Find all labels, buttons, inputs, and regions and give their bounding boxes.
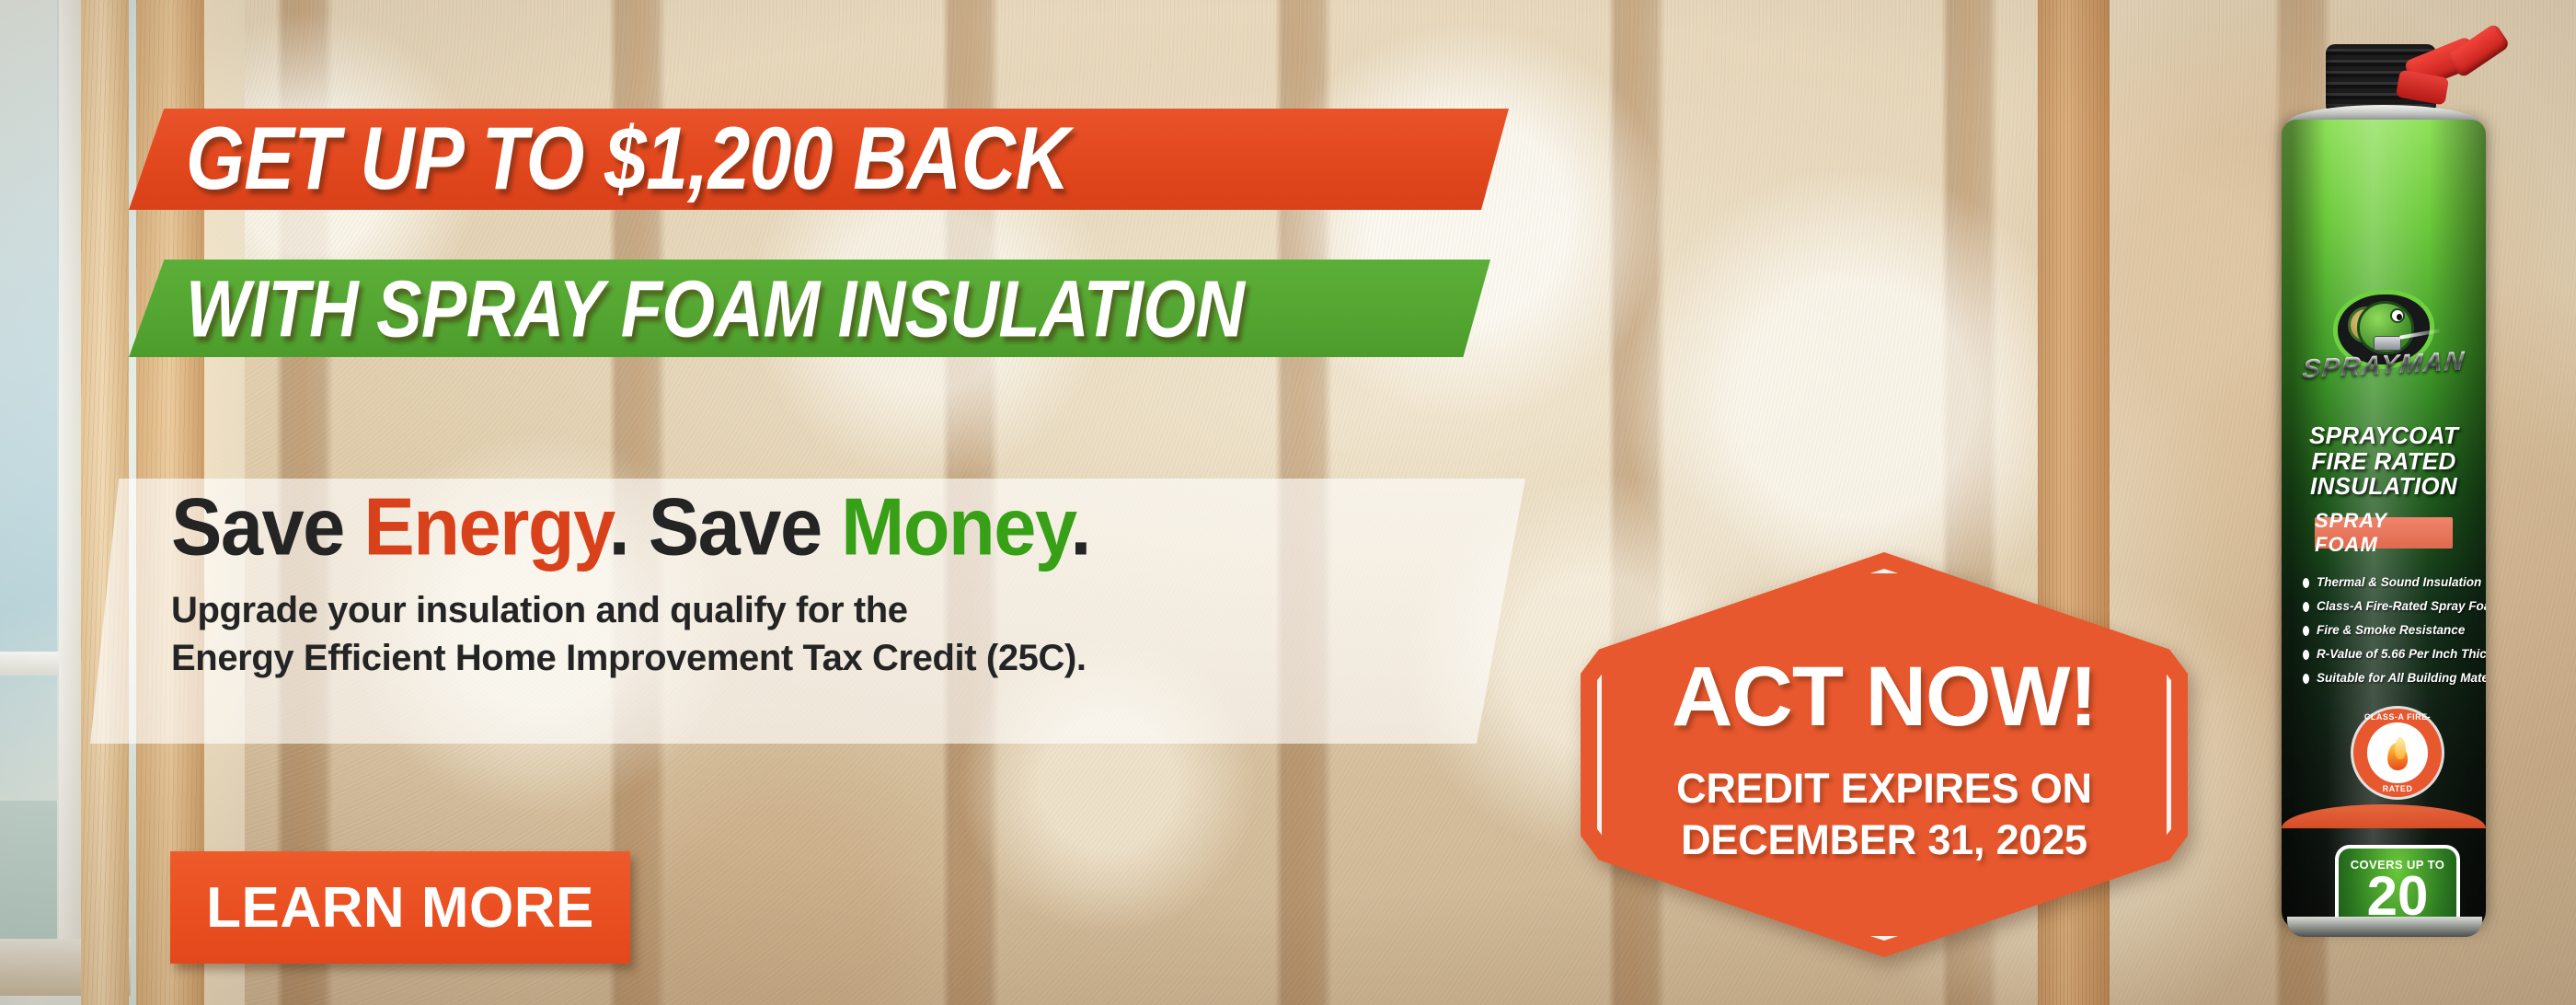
brand-logo: SPRAYMAN [2282, 263, 2486, 407]
badge-title: ACT NOW! [1672, 654, 2097, 739]
subhead-dot-2: . [1070, 481, 1090, 572]
product-name-line-3: INSULATION [2289, 474, 2478, 500]
subhead-save-2: Save [649, 481, 841, 572]
subhead-save-line: Save Energy. Save Money. [171, 482, 1514, 573]
coverage-number: 20 [2339, 870, 2456, 923]
badge-sub-line-1: CREDIT EXPIRES ON [1676, 763, 2092, 814]
headline-banner-secondary: WITH SPRAY FOAM INSULATION [129, 260, 1490, 357]
badge-content: ACT NOW! CREDIT EXPIRES ON DECEMBER 31, … [1581, 552, 2188, 957]
learn-more-button[interactable]: LEARN MORE [170, 851, 630, 964]
product-type-pill: SPRAY FOAM [2315, 517, 2453, 549]
turtle-eye-icon [2390, 308, 2405, 323]
seal-text-top: CLASS-A FIRE- [2353, 712, 2442, 722]
can-bottom-rim [2287, 917, 2482, 937]
product-name: SPRAYCOAT FIRE RATED INSULATION [2289, 423, 2478, 500]
product-name-line-1: SPRAYCOAT [2289, 423, 2478, 449]
headline-line-2: WITH SPRAY FOAM INSULATION [186, 262, 1244, 354]
list-item: Fire & Smoke Resistance [2302, 618, 2475, 642]
seal-text-bottom: RATED [2353, 784, 2442, 793]
brand-name: SPRAYMAN [2301, 346, 2467, 385]
body-copy-line-2: Energy Efficient Home Improvement Tax Cr… [171, 634, 1514, 682]
product-feature-list: Thermal & Sound Insulation Class-A Fire-… [2302, 571, 2475, 690]
subhead-money: Money [841, 481, 1070, 572]
spray-gun-icon [2374, 336, 2401, 351]
copy-block: Save Energy. Save Money. Upgrade your in… [171, 482, 1514, 682]
headline-line-1: GET UP TO $1,200 BACK [186, 109, 1069, 211]
product-name-line-2: FIRE RATED [2289, 449, 2478, 475]
list-item: Suitable for All Building Materials [2302, 666, 2475, 690]
headline-banner-primary: GET UP TO $1,200 BACK [129, 109, 1509, 210]
act-now-badge[interactable]: ACT NOW! CREDIT EXPIRES ON DECEMBER 31, … [1581, 552, 2188, 957]
body-copy: Upgrade your insulation and qualify for … [171, 586, 1514, 682]
can-red-nozzle-secondary-icon [2446, 23, 2511, 79]
label-orange-swoosh [2282, 804, 2486, 828]
subhead-energy: Energy [363, 481, 608, 572]
badge-subtitle: CREDIT EXPIRES ON DECEMBER 31, 2025 [1676, 763, 2092, 866]
seal-text: CLASS-A FIRE- RATED [2353, 709, 2442, 797]
badge-sub-line-2: DECEMBER 31, 2025 [1676, 814, 2092, 866]
product-can: SPRAYMAN SPRAYCOAT FIRE RATED INSULATION… [2269, 28, 2508, 957]
list-item: R-Value of 5.66 Per Inch Thickness [2302, 642, 2475, 666]
can-body-label: SPRAYMAN SPRAYCOAT FIRE RATED INSULATION… [2282, 120, 2486, 930]
list-item: Class-A Fire-Rated Spray Foam [2302, 595, 2475, 618]
body-copy-line-1: Upgrade your insulation and qualify for … [171, 586, 1514, 634]
subhead-save-1: Save [171, 481, 363, 572]
promo-banner: GET UP TO $1,200 BACK WITH SPRAY FOAM IN… [0, 0, 2576, 1005]
subhead-dot-1: . [609, 481, 649, 572]
list-item: Thermal & Sound Insulation [2302, 571, 2475, 595]
